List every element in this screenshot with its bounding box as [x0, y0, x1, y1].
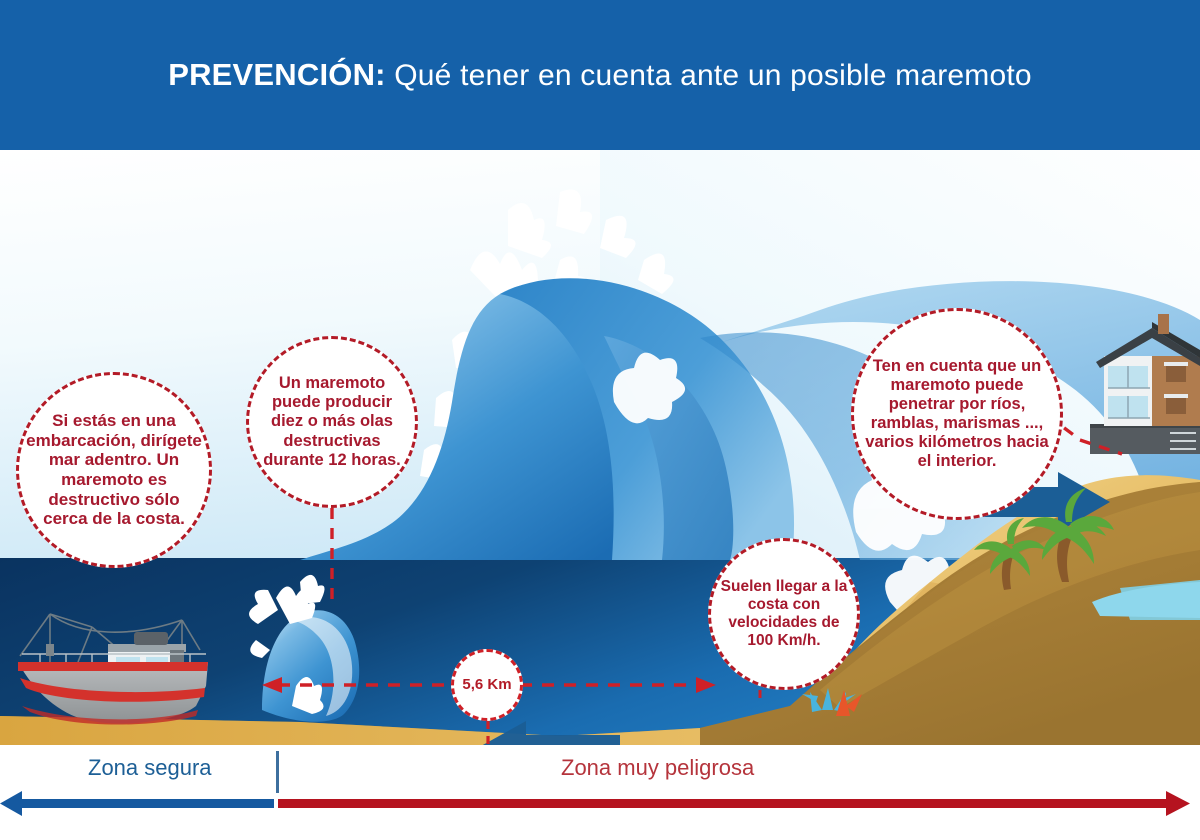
page-title: PREVENCIÓN: Qué tener en cuenta ante un …	[168, 57, 1032, 93]
zone-danger-arrow	[278, 791, 1190, 816]
page-title-light: Qué tener en cuenta ante un posible mare…	[386, 59, 1032, 92]
zone-safe-arrow	[0, 791, 274, 816]
callout-waves: Un maremoto puede producir diez o más ol…	[246, 336, 418, 508]
callout-speed-text: Suelen llegar a la costa con velocidades…	[708, 578, 860, 650]
scene: Si estás en una embarcación, dirígete ma…	[0, 150, 1200, 745]
callout-boat: Si estás en una embarcación, dirígete ma…	[16, 372, 212, 568]
callout-rivers: Ten en cuenta que un maremoto puede pene…	[851, 308, 1063, 520]
page-title-strong: PREVENCIÓN:	[168, 57, 386, 92]
callout-rivers-text: Ten en cuenta que un maremoto puede pene…	[851, 357, 1063, 472]
callout-boat-text: Si estás en una embarcación, dirígete ma…	[16, 411, 212, 529]
measure-wavelength-label: 5,6 Km	[462, 677, 511, 693]
callout-speed: Suelen llegar a la costa con velocidades…	[708, 538, 860, 690]
measure-wavelength: 5,6 Km	[451, 649, 523, 721]
callout-waves-text: Un maremoto puede producir diez o más ol…	[246, 374, 418, 470]
zone-arrows	[0, 745, 1200, 840]
infographic-page: PREVENCIÓN: Qué tener en cuenta ante un …	[0, 0, 1200, 840]
header-band: PREVENCIÓN: Qué tener en cuenta ante un …	[0, 0, 1200, 150]
header-inner: PREVENCIÓN: Qué tener en cuenta ante un …	[0, 0, 1200, 150]
zone-footer: Zona segura Zona muy peligrosa	[0, 745, 1200, 840]
